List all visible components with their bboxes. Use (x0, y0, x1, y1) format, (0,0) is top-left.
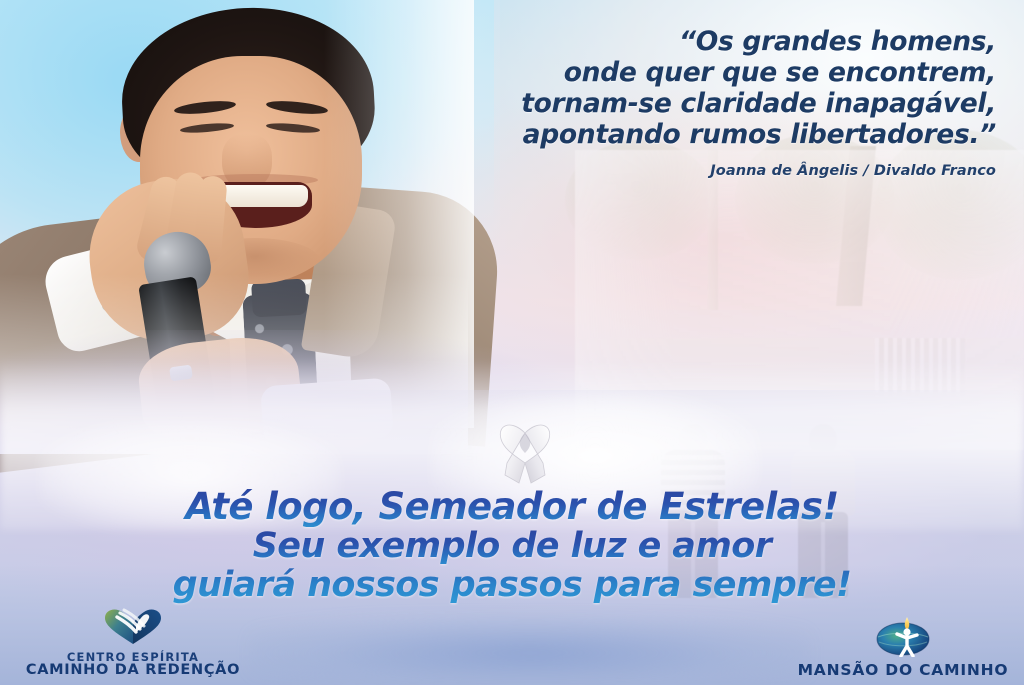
wall (575, 338, 1024, 396)
quote-attribution: Joanna de Ângelis / Divaldo Franco (376, 163, 996, 179)
logo-line-1: MANSÃO DO CAMINHO (798, 662, 1009, 679)
ground (575, 392, 1024, 450)
eye-left (180, 122, 234, 135)
chin-shadow (190, 238, 320, 284)
background-photo (575, 150, 1024, 450)
finger (162, 170, 208, 266)
nose (222, 134, 272, 190)
suit-shoulder-left (0, 202, 268, 477)
finger (192, 175, 228, 265)
eye-right (266, 122, 320, 135)
quote-line-4: apontando rumos libertadores.” (376, 119, 996, 150)
collar-right (305, 261, 374, 352)
hand-on-chin (80, 170, 257, 350)
eyebrow-right (266, 99, 329, 116)
message-line-2: Seu exemplo de luz e amor (0, 527, 1024, 566)
heart-hands-icon (102, 606, 164, 651)
globe-figure-flame-icon (874, 615, 932, 662)
suit-lapel (301, 201, 398, 361)
hand-holding-microphone (135, 332, 304, 444)
eyebrow-left (174, 99, 237, 116)
necktie-knot (251, 279, 307, 318)
microphone-head (139, 227, 215, 300)
logo-centro-espirita[interactable]: CENTRO ESPÍRITA CAMINHO DA REDENÇÃO (8, 606, 258, 679)
logo-line-2: CAMINHO DA REDENÇÃO (26, 663, 240, 679)
poster-canvas: “Os grandes homens, onde quer que se enc… (0, 0, 1024, 685)
fence (875, 338, 965, 396)
cuff-button (102, 300, 113, 311)
collar-left (212, 265, 282, 357)
finger (134, 174, 184, 265)
shirt-cuff (40, 236, 170, 356)
logo-mansao-do-caminho[interactable]: MANSÃO DO CAMINHO (788, 615, 1018, 679)
photo-fade-overlay (575, 150, 1024, 450)
teeth (204, 185, 308, 207)
ear (120, 106, 156, 162)
mourning-ribbon-icon (489, 409, 561, 487)
microphone-body (138, 276, 216, 413)
suit-shoulder-right (286, 183, 503, 446)
logo-centro-espirita-text: CENTRO ESPÍRITA CAMINHO DA REDENÇÃO (26, 651, 240, 679)
face (140, 56, 362, 284)
quote-line-3: tornam-se claridade inapagável, (376, 88, 996, 119)
smiling-mouth (200, 182, 312, 228)
quote-line-2: onde quer que se encontrem, (376, 57, 996, 88)
logo-mansao-text: MANSÃO DO CAMINHO (798, 662, 1009, 679)
upper-lip (194, 174, 318, 186)
ring (169, 365, 193, 382)
quote-line-1: “Os grandes homens, (376, 26, 996, 57)
message-line-1: Até logo, Semeador de Estrelas! (0, 487, 1024, 527)
neck (206, 256, 332, 336)
message-line-3: guiará nossos passos para sempre! (0, 566, 1024, 605)
tribute-message: Até logo, Semeador de Estrelas! Seu exem… (0, 487, 1024, 605)
bottom-cloud-streak (250, 617, 810, 677)
quote-block: “Os grandes homens, onde quer que se enc… (376, 26, 996, 179)
shirt-sleeve (260, 378, 394, 447)
shirt (228, 278, 353, 422)
portrait-bottom-fade (0, 274, 468, 454)
necktie (242, 292, 319, 435)
hair (117, 2, 378, 195)
